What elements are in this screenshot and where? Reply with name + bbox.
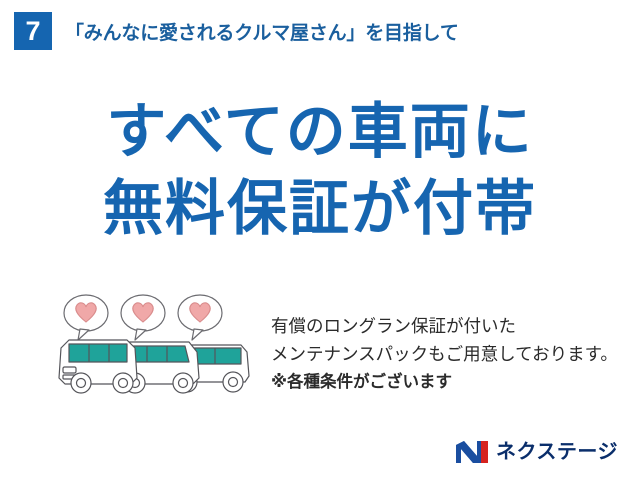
header: 7 「みんなに愛されるクルマ屋さん」を目指して [0,0,640,62]
lower-section: 有償のロングラン保証が付いた メンテナンスパックもご用意しております。 ※各種条… [0,290,640,415]
brand-wordmark: ネクステージ [496,442,618,462]
headline: すべての車両に 無料保証が付帯 [0,94,640,248]
headline-line-1: すべての車両に [0,94,640,171]
warranty-banner: 7 「みんなに愛されるクルマ屋さん」を目指して すべての車両に 無料保証が付帯 [0,0,640,480]
three-cars-with-heart-speech-bubbles-illustration [55,290,255,405]
description-line-2: メンテナンスパックもご用意しております。 [271,340,618,368]
description-line-1: 有償のロングラン保証が付いた [271,312,618,340]
content-panel: すべての車両に 無料保証が付帯 [0,62,640,422]
headline-line-2: 無料保証が付帯 [0,171,640,248]
header-title: 「みんなに愛されるクルマ屋さん」を目指して [65,18,459,45]
step-number-badge: 7 [14,12,52,50]
nexstage-n-logo-icon [455,439,489,465]
brand-logo: ネクステージ [455,438,618,466]
car-kei-van [59,340,137,393]
description-block: 有償のロングラン保証が付いた メンテナンスパックもご用意しております。 ※各種条… [271,312,618,395]
description-note: ※各種条件がございます [271,369,618,396]
